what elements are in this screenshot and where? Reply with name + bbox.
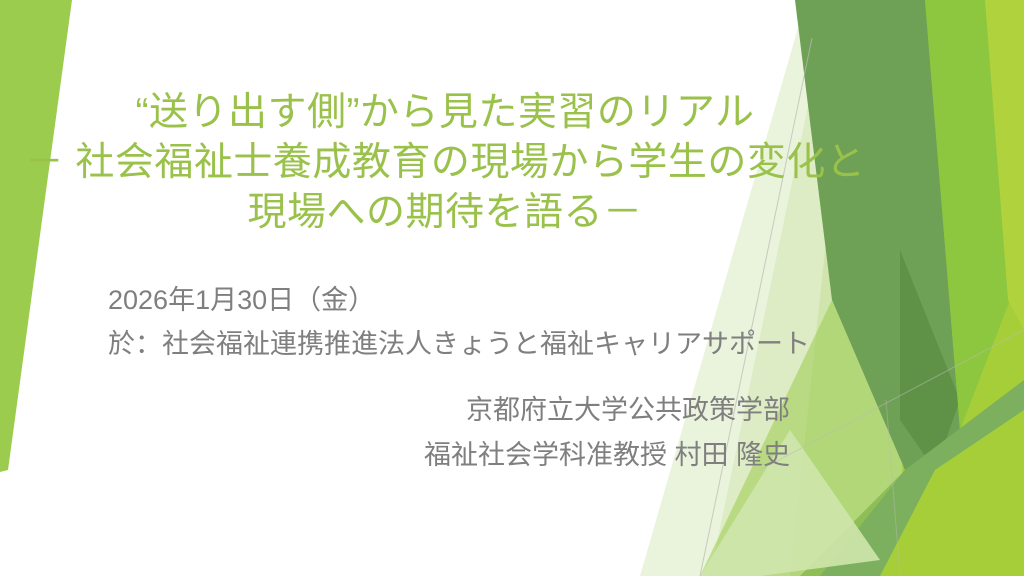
event-venue: 於：社会福祉連携推進法人きょうと福祉キャリアサポート	[108, 322, 810, 366]
presentation-slide: “送り出す側”から見た実習のリアル － 社会福祉士養成教育の現場から学生の変化と…	[0, 0, 1024, 576]
slide-content: “送り出す側”から見た実習のリアル － 社会福祉士養成教育の現場から学生の変化と…	[0, 0, 1024, 576]
title-line-3: 現場への期待を語る－	[0, 188, 890, 238]
slide-title: “送り出す側”から見た実習のリアル － 社会福祉士養成教育の現場から学生の変化と…	[0, 88, 890, 238]
event-meta: 2026年1月30日（金） 於：社会福祉連携推進法人きょうと福祉キャリアサポート	[108, 278, 810, 366]
presenter-name: 福祉社会学科准教授 村田 隆史	[0, 433, 790, 478]
title-line-2: － 社会福祉士養成教育の現場から学生の変化と	[0, 138, 890, 188]
event-date: 2026年1月30日（金）	[108, 278, 810, 322]
title-line-1: “送り出す側”から見た実習のリアル	[0, 88, 890, 138]
presenter-affiliation: 京都府立大学公共政策学部	[0, 388, 790, 433]
presenter-info: 京都府立大学公共政策学部 福祉社会学科准教授 村田 隆史	[0, 388, 790, 478]
